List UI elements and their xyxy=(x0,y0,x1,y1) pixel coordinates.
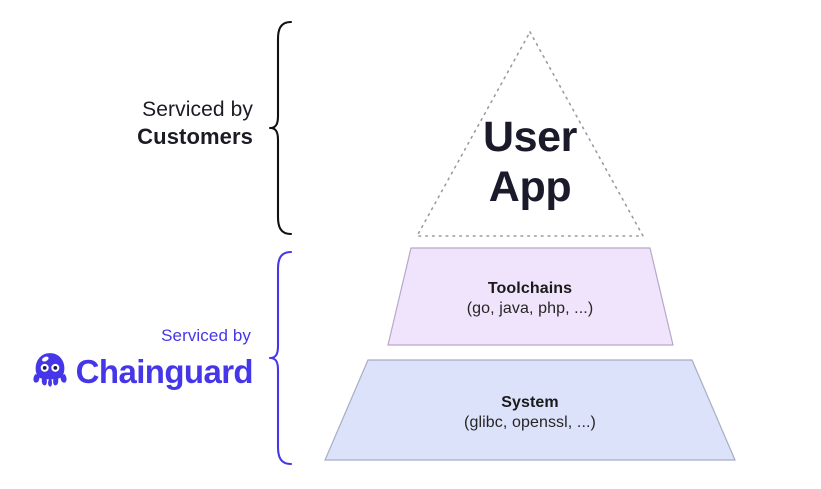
chainguard-label-group: Serviced by Chainguard xyxy=(0,325,253,390)
chainguard-lead-label: Serviced by xyxy=(0,325,253,347)
customers-brace xyxy=(270,22,291,234)
diagram-canvas: Serviced by Customers Serviced by xyxy=(0,0,821,489)
tier-shape-system xyxy=(325,360,735,460)
tier-shape-toolchains xyxy=(388,248,673,345)
octopus-icon xyxy=(30,350,70,390)
tier-shape-user-app xyxy=(417,32,643,236)
chainguard-logo-lockup: Chainguard xyxy=(0,350,253,390)
customers-label-group: Serviced by Customers xyxy=(0,96,253,152)
customers-entity-label: Customers xyxy=(0,123,253,152)
chainguard-brace xyxy=(270,252,291,464)
customers-lead-label: Serviced by xyxy=(0,96,253,123)
pyramid-shapes xyxy=(0,0,821,489)
chainguard-wordmark: Chainguard xyxy=(76,355,253,388)
